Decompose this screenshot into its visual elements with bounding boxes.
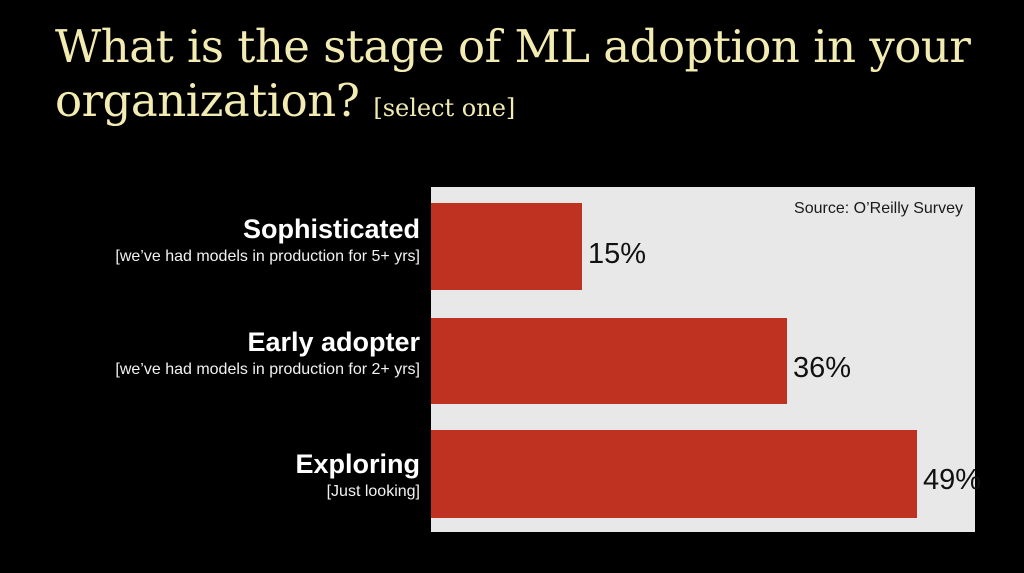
category-subtitle: [we’ve had models in production for 2+ y… — [0, 359, 420, 381]
category-label-sophisticated: Sophisticated [we’ve had models in produ… — [0, 213, 420, 268]
bar-sophisticated — [431, 203, 582, 290]
category-label-exploring: Exploring [Just looking] — [0, 448, 420, 503]
bar-value-early-adopter: 36% — [793, 351, 851, 385]
slide-canvas: What is the stage of ML adoption in your… — [0, 0, 1024, 573]
bar-exploring — [431, 430, 917, 518]
title-line-1: What is the stage of ML adoption in your — [55, 20, 1005, 74]
bar-chart-panel: Source: O’Reilly Survey 15% 36% 49% — [431, 187, 975, 532]
bar-value-exploring: 49% — [923, 463, 981, 497]
category-subtitle: [we’ve had models in production for 5+ y… — [0, 246, 420, 268]
title-line-2: organization? — [55, 74, 359, 128]
title-line-2-row: organization? [select one] — [55, 74, 1005, 128]
category-label-early-adopter: Early adopter [we’ve had models in produ… — [0, 326, 420, 381]
title-qualifier: [select one] — [373, 94, 515, 122]
bar-early-adopter — [431, 318, 787, 404]
category-name: Exploring — [0, 448, 420, 480]
page-title: What is the stage of ML adoption in your… — [55, 20, 1005, 128]
category-name: Sophisticated — [0, 213, 420, 245]
category-subtitle: [Just looking] — [0, 481, 420, 503]
source-attribution: Source: O’Reilly Survey — [794, 199, 963, 219]
category-name: Early adopter — [0, 326, 420, 358]
bar-value-sophisticated: 15% — [588, 237, 646, 271]
